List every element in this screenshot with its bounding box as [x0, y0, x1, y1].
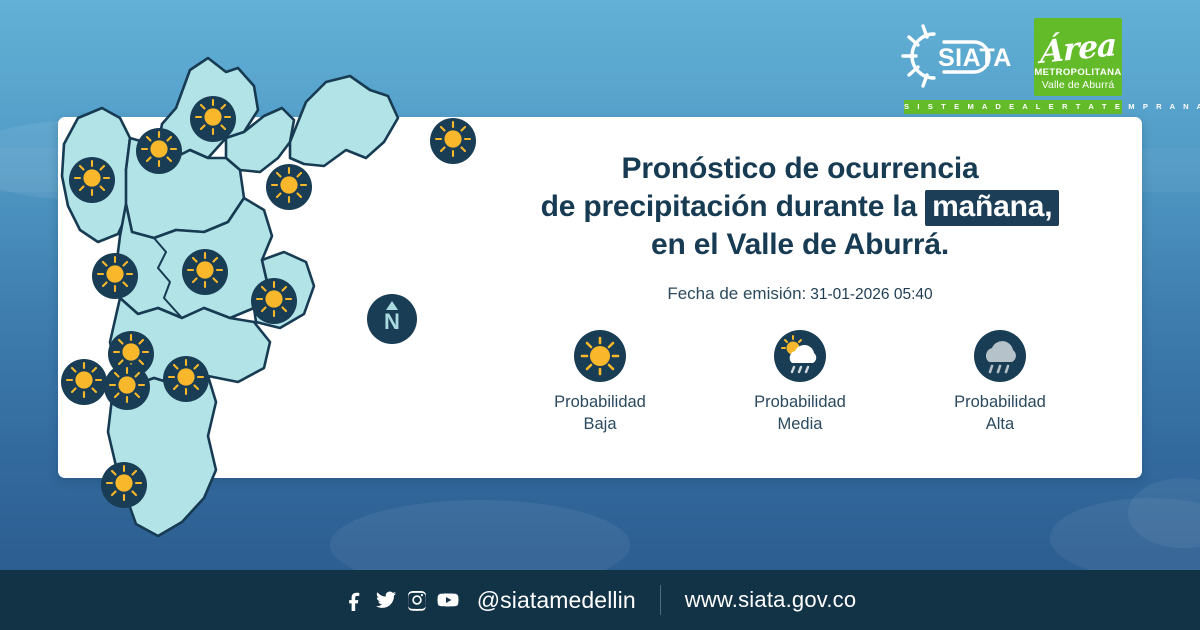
north-arrow-icon	[386, 301, 398, 310]
siata-tagline: S I S T E M A D E A L E R T A T E M P R …	[904, 100, 1122, 114]
map-marker	[266, 164, 312, 210]
youtube-icon[interactable]	[437, 589, 459, 611]
sun-icon	[136, 126, 182, 177]
legend-item-baja: Probabilidad Baja	[515, 330, 685, 436]
twitter-icon[interactable]	[375, 589, 397, 611]
legend-label-media: Probabilidad Media	[754, 391, 846, 436]
social-handle[interactable]: @siatamedellin	[477, 587, 636, 614]
sun-icon	[104, 362, 150, 413]
sun-rain-cloud-icon	[774, 330, 826, 382]
website-url[interactable]: www.siata.gov.co	[685, 587, 857, 613]
page-title: Pronóstico de ocurrencia de precipitació…	[500, 150, 1100, 265]
issue-date-label: Fecha de emisión:	[667, 284, 806, 303]
map-marker	[136, 128, 182, 174]
sun-icon	[266, 162, 312, 213]
sun-icon	[430, 116, 476, 167]
legend-item-alta: Probabilidad Alta	[915, 330, 1085, 436]
logo-group: SIATA Área METROPOLITANA Valle de Aburrá…	[890, 16, 1122, 114]
legend-label-alta-l1: Probabilidad	[954, 391, 1046, 413]
sun-icon	[574, 330, 626, 382]
map-marker	[101, 462, 147, 508]
region-copacabana	[290, 76, 398, 166]
legend-label-baja: Probabilidad Baja	[554, 391, 646, 436]
facebook-icon[interactable]	[344, 589, 366, 611]
probability-legend: Probabilidad Baja	[500, 330, 1100, 436]
issue-date-row: Fecha de emisión:31-01-2026 05:40	[500, 284, 1100, 304]
valle-de-aburra-map: N	[58, 46, 408, 566]
sun-cloud-icon: SIATA	[890, 20, 1018, 92]
title-line-2-text: de precipitación durante la	[541, 190, 917, 223]
footer-divider	[660, 585, 661, 615]
compass-rose: N	[367, 294, 417, 344]
sun-icon	[163, 354, 209, 405]
map-marker	[190, 96, 236, 142]
title-line-3: en el Valle de Aburrá.	[500, 226, 1100, 264]
siata-logo: SIATA	[890, 20, 1018, 92]
svg-text:SIATA: SIATA	[938, 44, 1012, 72]
title-line-2: de precipitación durante la mañana,	[500, 188, 1100, 226]
legend-label-alta-l2: Alta	[954, 413, 1046, 435]
legend-label-baja-l1: Probabilidad	[554, 391, 646, 413]
sun-icon	[61, 357, 107, 408]
footer-bar: @siatamedellin www.siata.gov.co	[0, 570, 1200, 630]
map-marker	[104, 364, 150, 410]
sun-icon	[182, 247, 228, 298]
legend-label-baja-l2: Baja	[554, 413, 646, 435]
legend-label-media-l2: Media	[754, 413, 846, 435]
map-marker	[69, 157, 115, 203]
sun-icon	[69, 155, 115, 206]
instagram-icon[interactable]	[406, 589, 428, 611]
legend-label-media-l1: Probabilidad	[754, 391, 846, 413]
issue-date-value: 31-01-2026 05:40	[810, 286, 932, 303]
legend-label-alta: Probabilidad Alta	[954, 391, 1046, 436]
rain-cloud-icon	[974, 330, 1026, 382]
sun-icon	[101, 460, 147, 511]
map-marker	[182, 249, 228, 295]
area-metropolitana-logo: Área METROPOLITANA Valle de Aburrá	[1034, 18, 1122, 96]
area-logo-script: Área	[1040, 30, 1116, 69]
title-line-1: Pronóstico de ocurrencia	[500, 150, 1100, 188]
social-icon-group	[344, 589, 459, 611]
compass-label: N	[384, 311, 400, 333]
sun-icon	[190, 94, 236, 145]
legend-item-media: Probabilidad Media	[715, 330, 885, 436]
title-highlight-badge: mañana,	[925, 190, 1059, 226]
sun-icon	[92, 251, 138, 302]
map-marker	[92, 253, 138, 299]
map-marker	[163, 356, 209, 402]
area-logo-line2: Valle de Aburrá	[1042, 79, 1115, 91]
sun-icon	[251, 276, 297, 327]
forecast-text-block: Pronóstico de ocurrencia de precipitació…	[500, 150, 1100, 304]
infographic-canvas: SIATA Área METROPOLITANA Valle de Aburrá…	[0, 0, 1200, 630]
map-marker	[61, 359, 107, 405]
map-marker	[251, 278, 297, 324]
map-marker	[430, 118, 476, 164]
